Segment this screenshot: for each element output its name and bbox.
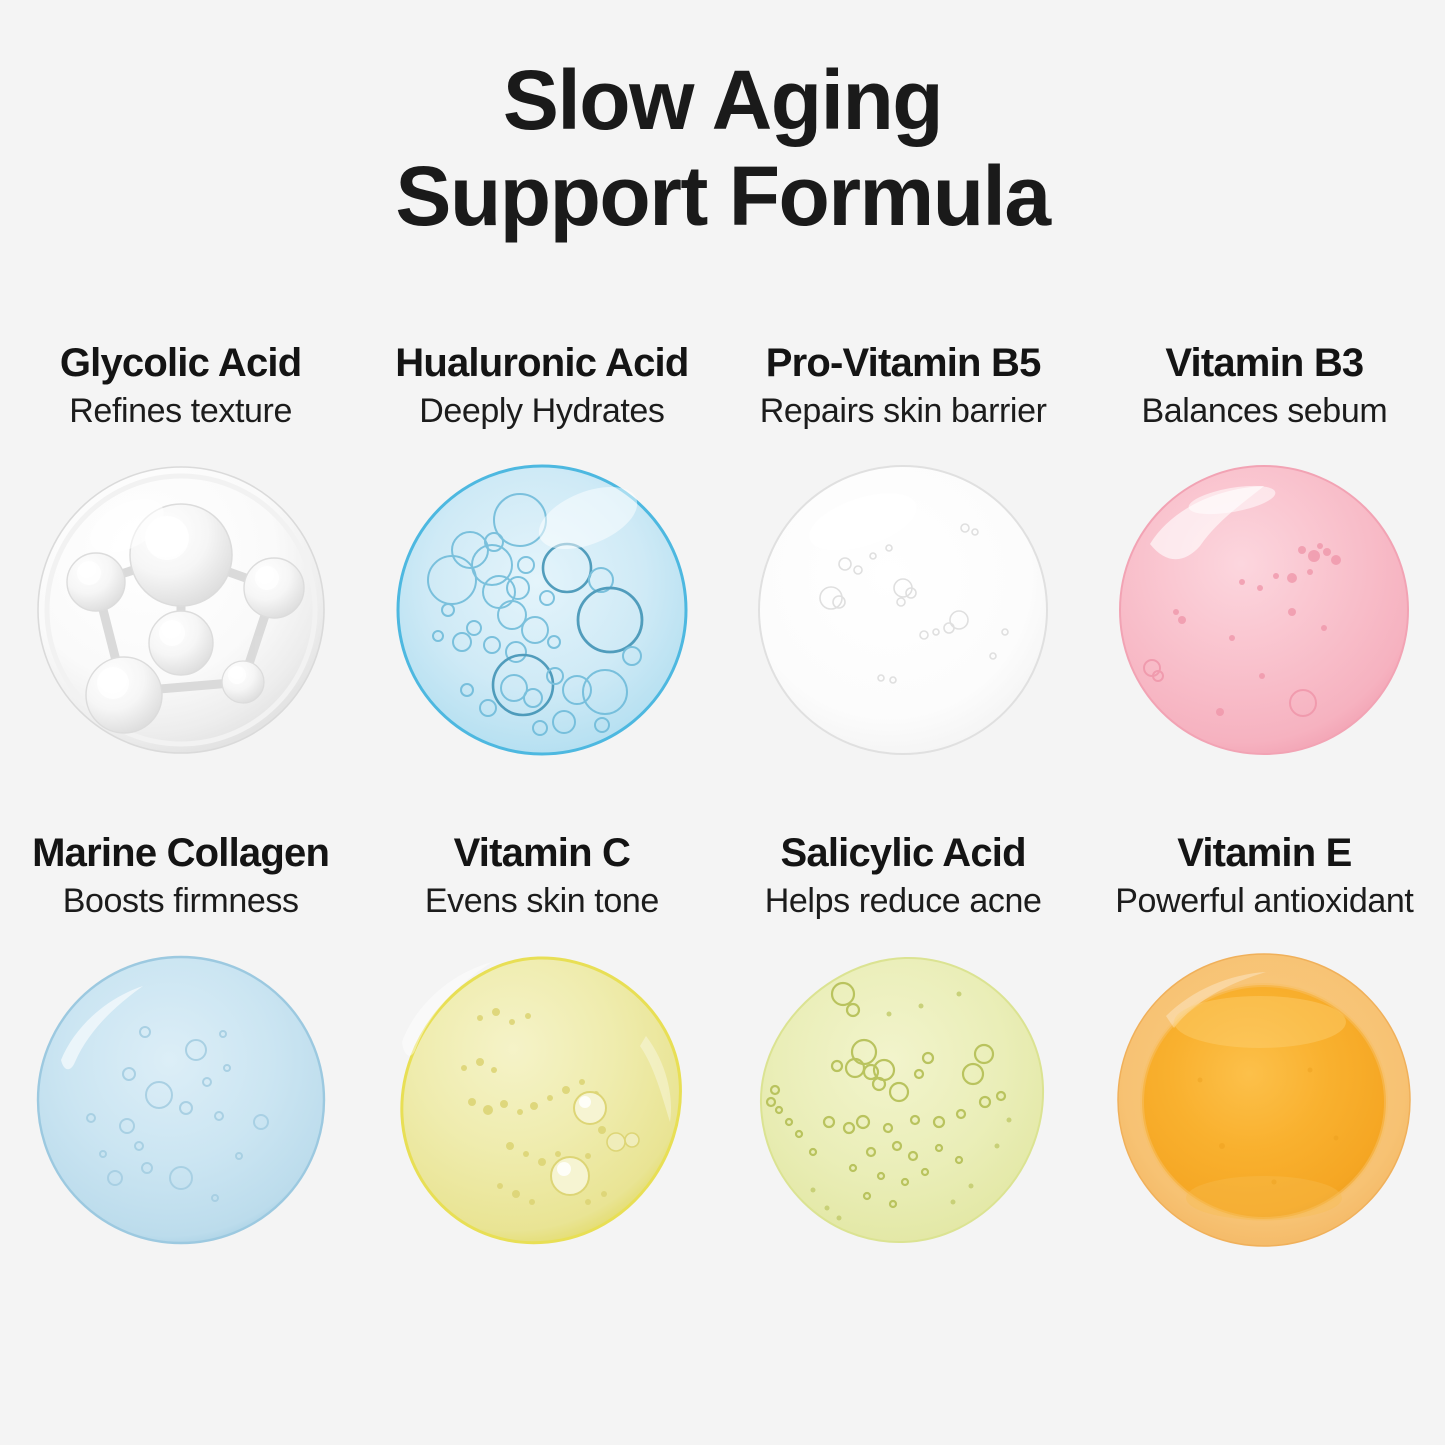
pale-blue-gel-swatch [31, 950, 331, 1250]
title-line-2: Support Formula [0, 148, 1445, 244]
pink-gel-swatch [1114, 460, 1414, 760]
ingredient-row-2: Marine Collagen Boosts firmness [0, 830, 1445, 1320]
ingredient-benefit: Helps reduce acne [765, 880, 1042, 922]
page-title: Slow Aging Support Formula [0, 0, 1445, 244]
yellow-green-bubble-gel-swatch [753, 950, 1053, 1250]
ingredient-benefit: Repairs skin barrier [760, 390, 1047, 432]
ingredient-benefit: Powerful antioxidant [1115, 880, 1413, 922]
ingredient-name: Pro-Vitamin B5 [766, 340, 1041, 386]
blue-bubble-gel-swatch [392, 460, 692, 760]
ingredient-benefit: Balances sebum [1141, 390, 1387, 432]
ingredient-benefit: Evens skin tone [425, 880, 659, 922]
ingredient-card-glycolic-acid: Glycolic Acid Refines texture [0, 340, 361, 830]
ingredient-card-marine-collagen: Marine Collagen Boosts firmness [0, 830, 361, 1320]
amber-oil-swatch [1114, 950, 1414, 1250]
title-line-1: Slow Aging [0, 52, 1445, 148]
ingredient-card-salicylic-acid: Salicylic Acid Helps reduce acne [723, 830, 1084, 1320]
ingredient-name: Vitamin C [454, 830, 631, 876]
ingredient-card-vitamin-c: Vitamin C Evens skin tone [361, 830, 722, 1320]
ingredient-name: Glycolic Acid [60, 340, 302, 386]
ingredient-row-1: Glycolic Acid Refines texture [0, 340, 1445, 830]
ingredient-benefit: Deeply Hydrates [419, 390, 664, 432]
ingredient-card-vitamin-e: Vitamin E Powerful antioxidant [1084, 830, 1445, 1320]
ingredient-name: Hualuronic Acid [395, 340, 688, 386]
ingredient-benefit: Refines texture [69, 390, 292, 432]
ingredient-name: Marine Collagen [32, 830, 329, 876]
ingredient-name: Vitamin B3 [1165, 340, 1363, 386]
clear-gel-swatch [753, 460, 1053, 760]
ingredient-name: Salicylic Acid [781, 830, 1026, 876]
ingredient-card-vitamin-b3: Vitamin B3 Balances sebum [1084, 340, 1445, 830]
ingredient-grid: Glycolic Acid Refines texture [0, 340, 1445, 1320]
ingredient-name: Vitamin E [1177, 830, 1351, 876]
ingredient-card-hualuronic-acid: Hualuronic Acid Deeply Hydrates [361, 340, 722, 830]
ingredient-benefit: Boosts firmness [63, 880, 299, 922]
molecule-sphere-swatch [31, 460, 331, 760]
pale-yellow-gel-swatch [392, 950, 692, 1250]
ingredient-card-pro-vitamin-b5: Pro-Vitamin B5 Repairs skin barrier [723, 340, 1084, 830]
